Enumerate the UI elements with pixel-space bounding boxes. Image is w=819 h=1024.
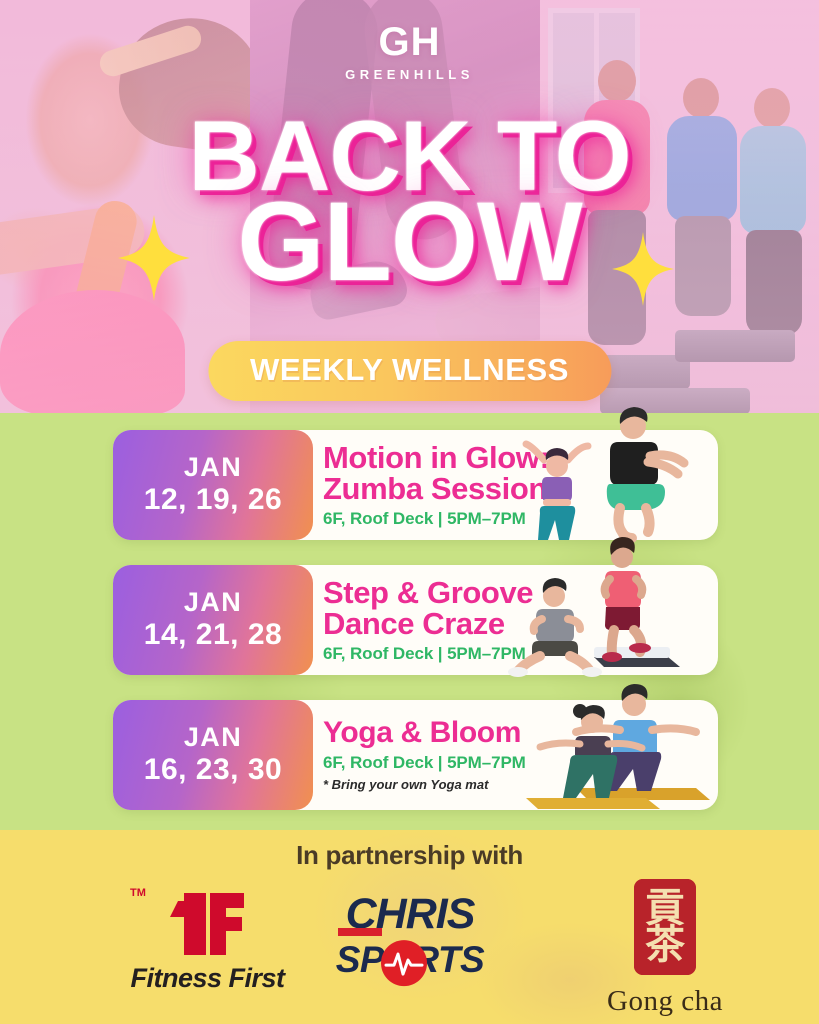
chris-wordmark-row: CHRIS xyxy=(300,893,520,939)
fitness-first-wordmark: Fitness First xyxy=(100,963,315,994)
hero-section: GH GREENHILLS BACK TO GLOW WEEKLY WELLNE… xyxy=(0,0,819,413)
partnership-heading: In partnership with xyxy=(0,840,819,871)
event-dates: 16, 23, 30 xyxy=(144,753,282,788)
chris-sports-logo[interactable]: CHRIS SPORTS xyxy=(300,893,520,987)
gong-cha-seal-characters: 貢茶 xyxy=(634,890,696,964)
event-date-badge: JAN 16, 23, 30 xyxy=(113,700,313,810)
chris-red-bar xyxy=(338,928,382,936)
event-card[interactable]: JAN 12, 19, 26 Motion in Glow: Zumba Ses… xyxy=(113,430,718,540)
event-card[interactable]: JAN 14, 21, 28 Step & Groove Dance Craze… xyxy=(113,565,718,675)
gong-cha-logo[interactable]: 貢茶 Gong cha xyxy=(555,879,775,1018)
zumba-illustration xyxy=(518,430,718,540)
partner-logos: TM Fitness First CHRIS SPORTS xyxy=(0,885,819,1015)
partnership-heading-text: In partnership with xyxy=(296,840,523,870)
gong-cha-seal: 貢茶 xyxy=(634,879,696,975)
event-date-badge: JAN 12, 19, 26 xyxy=(113,430,313,540)
fitness-first-mark: TM xyxy=(100,885,315,963)
event-card[interactable]: JAN 16, 23, 30 Yoga & Bloom 6F, Roof Dec… xyxy=(113,700,718,810)
step-aerobics-illustration xyxy=(518,565,718,675)
trademark-symbol: TM xyxy=(130,887,146,899)
weekly-wellness-badge: WEEKLY WELLNESS xyxy=(208,341,611,401)
event-month: JAN xyxy=(184,588,242,618)
logo-monogram: GH xyxy=(0,22,819,62)
heartbeat-icon xyxy=(381,940,427,986)
event-dates: 12, 19, 26 xyxy=(144,483,282,518)
sports-wordmark-row: SPORTS xyxy=(300,941,520,987)
fitness-first-logo[interactable]: TM Fitness First xyxy=(100,885,315,994)
event-month: JAN xyxy=(184,453,242,483)
gong-cha-wordmark: Gong cha xyxy=(555,985,775,1018)
logo-wordmark: GREENHILLS xyxy=(0,67,819,82)
event-date-badge: JAN 14, 21, 28 xyxy=(113,565,313,675)
event-dates: 14, 21, 28 xyxy=(144,618,282,653)
poster-root: GH GREENHILLS BACK TO GLOW WEEKLY WELLNE… xyxy=(0,0,819,1024)
yoga-illustration xyxy=(518,700,718,810)
sports-wordmark-left: SP xyxy=(336,939,384,980)
event-month: JAN xyxy=(184,723,242,753)
sparkle-icon xyxy=(118,215,190,301)
sparkle-icon xyxy=(612,232,674,306)
badge-label: WEEKLY WELLNESS xyxy=(250,352,569,387)
greenhills-logo: GH GREENHILLS xyxy=(0,22,819,82)
